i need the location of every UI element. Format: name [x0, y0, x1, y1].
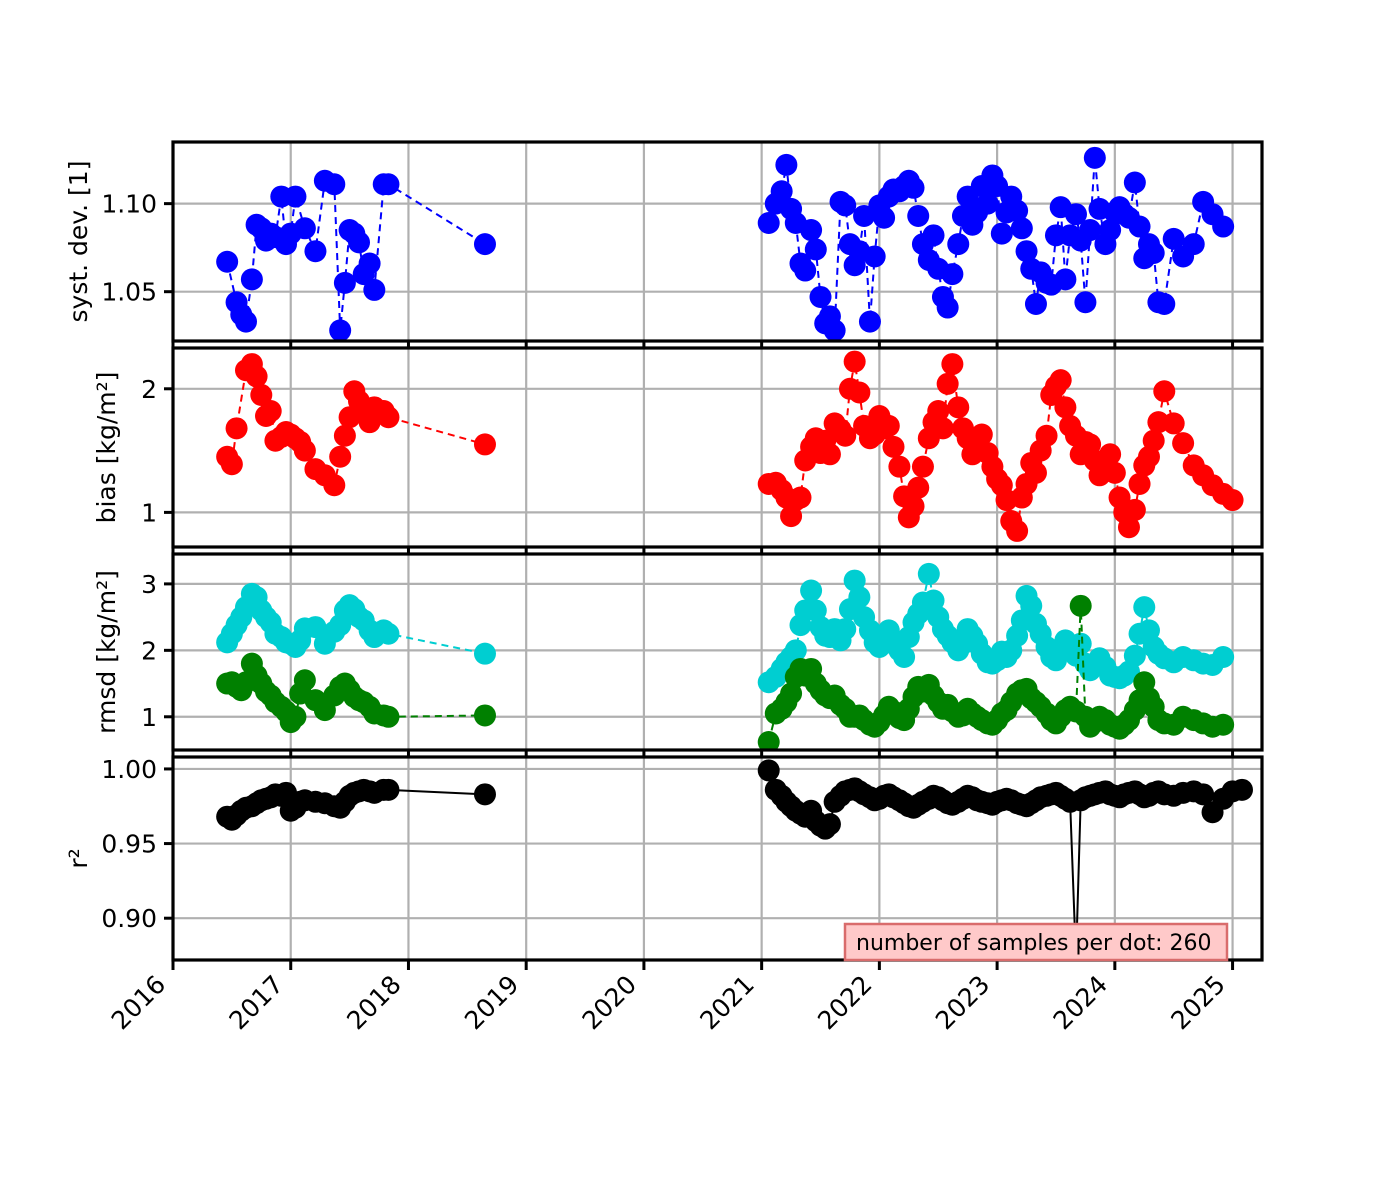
xtick-label-2025: 2025: [1165, 970, 1230, 1035]
data-point: [1124, 645, 1146, 667]
xtick-label-2020: 2020: [577, 970, 642, 1035]
data-point: [1054, 268, 1076, 290]
data-point: [991, 223, 1013, 245]
data-point: [1143, 430, 1165, 452]
data-point: [377, 406, 399, 428]
data-point: [758, 212, 780, 234]
data-point: [474, 433, 496, 455]
data-point: [1070, 595, 1092, 617]
data-point: [260, 400, 282, 422]
data-point: [1099, 443, 1121, 465]
data-point: [947, 233, 969, 255]
data-point: [790, 487, 812, 509]
data-point: [377, 779, 399, 801]
xtick-label-2018: 2018: [341, 970, 406, 1035]
data-point: [923, 224, 945, 246]
xtick-label-2016: 2016: [106, 970, 171, 1035]
xtick-label-2019: 2019: [459, 970, 524, 1035]
data-point: [284, 186, 306, 208]
ytick-label: 2: [141, 636, 157, 665]
data-point: [1025, 462, 1047, 484]
xtick-label-2022: 2022: [812, 970, 877, 1035]
data-point: [848, 586, 870, 608]
ytick-label: 1: [141, 703, 157, 732]
data-point: [1222, 0, 1244, 11]
data-point: [1212, 216, 1234, 238]
data-point: [937, 297, 959, 319]
panel-2-ylabel: bias [kg/m²]: [92, 372, 121, 524]
ytick-label: 1.10: [101, 190, 157, 219]
figure-canvas: 1.051.10syst. dev. [1]12bias [kg/m²]123r…: [0, 0, 1400, 1200]
ytick-label: 3: [141, 570, 157, 599]
data-point: [1153, 380, 1175, 402]
data-point: [1231, 0, 1253, 11]
data-point: [1025, 293, 1047, 315]
data-point: [859, 311, 881, 333]
ytick-label: 0.95: [101, 830, 157, 859]
data-point: [785, 639, 807, 661]
data-point: [363, 279, 385, 301]
data-point: [1153, 293, 1175, 315]
data-point: [800, 219, 822, 241]
data-point: [947, 396, 969, 418]
data-point: [377, 173, 399, 195]
data-point: [1222, 489, 1244, 511]
data-point: [474, 704, 496, 726]
data-point: [474, 643, 496, 665]
data-point: [334, 272, 356, 294]
data-point: [1183, 233, 1205, 255]
data-point: [1172, 432, 1194, 454]
data-point: [1231, 0, 1253, 11]
ytick-label: 0.90: [101, 904, 157, 933]
data-point: [1222, 0, 1244, 11]
sample-count-annotation: number of samples per dot: 260: [845, 924, 1227, 960]
xtick-label-2021: 2021: [694, 970, 759, 1035]
data-point: [932, 417, 954, 439]
data-point: [226, 417, 248, 439]
data-point: [1084, 147, 1106, 169]
data-point: [1129, 473, 1151, 495]
data-point: [216, 251, 238, 273]
data-point: [903, 495, 925, 517]
data-point: [848, 382, 870, 404]
data-point: [1231, 0, 1253, 11]
ytick-label: 1: [141, 498, 157, 527]
data-point: [235, 311, 257, 333]
data-point: [844, 351, 866, 373]
panel-1: 1.051.10: [101, 0, 1262, 349]
data-point: [941, 353, 963, 375]
data-point: [348, 231, 370, 253]
data-point: [377, 706, 399, 728]
panel-3-ylabel: rmsd [kg/m²]: [92, 570, 121, 734]
data-point: [323, 474, 345, 496]
data-point: [834, 618, 856, 640]
data-point: [1143, 242, 1165, 264]
data-point: [758, 759, 780, 781]
data-point: [294, 669, 316, 691]
data-point: [241, 268, 263, 290]
data-point: [907, 477, 929, 499]
data-point: [329, 319, 351, 341]
xtick-label-2017: 2017: [223, 970, 288, 1035]
annotation-text: number of samples per dot: 260: [856, 931, 1211, 956]
data-point: [1163, 412, 1185, 434]
data-point: [474, 233, 496, 255]
data-point: [377, 623, 399, 645]
ytick-label: 2: [141, 375, 157, 404]
data-point: [878, 415, 900, 437]
data-point: [907, 205, 929, 227]
data-point: [1036, 425, 1058, 447]
ytick-label: 1.00: [101, 755, 157, 784]
data-point: [294, 217, 316, 239]
panel-1-ylabel: syst. dev. [1]: [64, 161, 93, 323]
data-point: [359, 253, 381, 275]
data-point: [1104, 462, 1126, 484]
data-point: [912, 456, 934, 478]
data-point: [1231, 0, 1253, 11]
data-point: [294, 440, 316, 462]
data-point: [903, 177, 925, 199]
data-point: [221, 453, 243, 475]
data-point: [893, 646, 915, 668]
data-point: [810, 286, 832, 308]
xtick-label-2023: 2023: [930, 970, 995, 1035]
xtick-label-2024: 2024: [1048, 970, 1113, 1035]
data-point: [937, 373, 959, 395]
data-point: [918, 563, 940, 585]
data-point: [284, 706, 306, 728]
data-point: [1050, 369, 1072, 391]
data-point: [864, 245, 886, 267]
multi-panel-timeseries-figure: 1.051.10syst. dev. [1]12bias [kg/m²]123r…: [0, 0, 1400, 1200]
data-point: [334, 425, 356, 447]
data-point: [824, 319, 846, 341]
data-point: [794, 260, 816, 282]
data-point: [800, 580, 822, 602]
data-point: [246, 365, 268, 387]
data-point: [323, 173, 345, 195]
data-point: [329, 446, 351, 468]
data-point: [1124, 499, 1146, 521]
data-point: [1212, 646, 1234, 668]
data-point: [775, 154, 797, 176]
data-point: [1011, 217, 1033, 239]
data-point: [1133, 596, 1155, 618]
data-point: [1212, 714, 1234, 736]
data-point: [888, 456, 910, 478]
data-point: [1074, 291, 1096, 313]
data-point: [873, 207, 895, 229]
ytick-label: 1.05: [101, 278, 157, 307]
data-point: [1006, 520, 1028, 542]
data-point: [834, 425, 856, 447]
data-point: [883, 436, 905, 458]
data-point: [304, 240, 326, 262]
data-point: [1070, 633, 1092, 655]
data-point: [1222, 0, 1244, 11]
data-point: [474, 783, 496, 805]
data-point: [941, 263, 963, 285]
data-point: [834, 194, 856, 216]
data-point: [805, 238, 827, 260]
panel-4-ylabel: r²: [64, 848, 93, 868]
data-point: [1054, 396, 1076, 418]
data-point: [819, 443, 841, 465]
data-point: [1124, 172, 1146, 194]
data-point: [1231, 779, 1253, 801]
data-point: [819, 813, 841, 835]
